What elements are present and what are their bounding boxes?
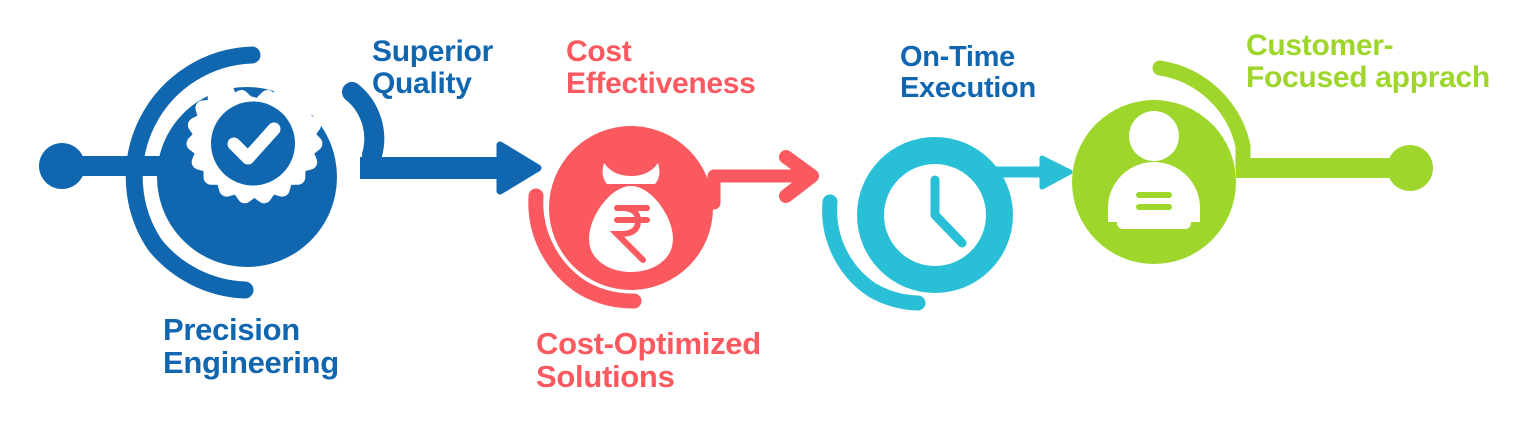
- end-dot: [1387, 145, 1433, 191]
- start-connector-segment: [60, 156, 172, 176]
- step-on-time-execution[interactable]: [830, 137, 1013, 303]
- step-cost-effectiveness[interactable]: [536, 126, 713, 301]
- gear-check-icon: [194, 92, 315, 196]
- clock-icon: [884, 164, 986, 266]
- label-superior-quality: Superior Quality: [372, 36, 522, 101]
- label-cost-optimized-solutions: Cost-Optimized Solutions: [536, 327, 806, 394]
- infographic-canvas: Superior Quality Cost Effectiveness On-T…: [0, 0, 1536, 435]
- label-customer-focused-approach: Customer- Focused apprach: [1246, 30, 1536, 95]
- connector-blue-arrowhead: [500, 145, 538, 191]
- label-on-time-execution: On-Time Execution: [900, 42, 1070, 105]
- label-cost-effectiveness: Cost Effectiveness: [566, 36, 806, 101]
- step-precision-engineering[interactable]: [39, 55, 337, 290]
- step-customer-focused[interactable]: [1072, 68, 1433, 264]
- connector-coral: [714, 157, 812, 203]
- label-precision-engineering: Precision Engineering: [163, 313, 393, 380]
- connector-cyan-arrowhead: [1042, 158, 1070, 187]
- connector-blue: [352, 92, 538, 191]
